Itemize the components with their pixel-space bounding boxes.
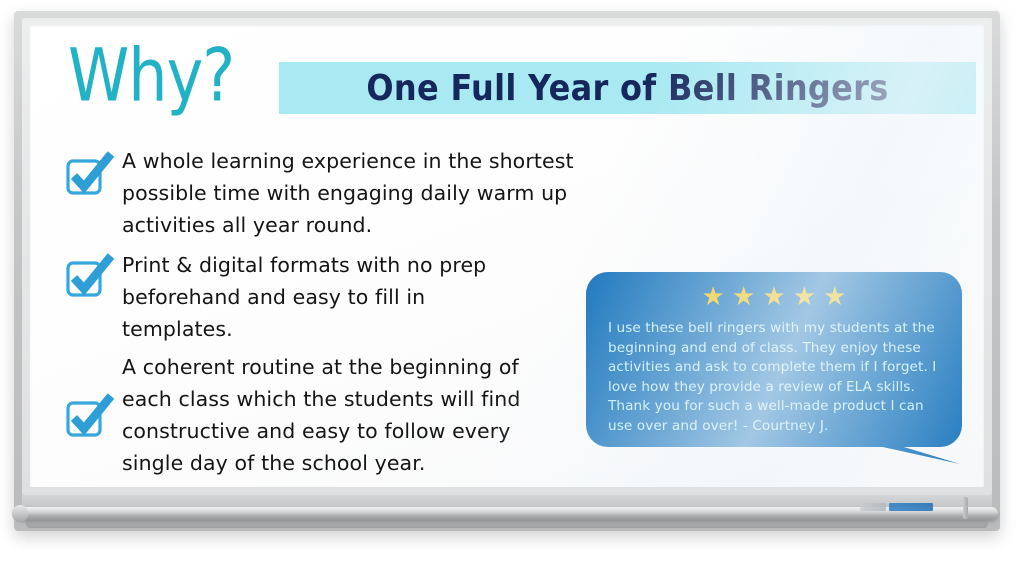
frame-screw <box>963 497 968 519</box>
why-heading: Why? <box>68 39 234 112</box>
star-icon: ★ <box>823 284 846 310</box>
title-band: One Full Year of Bell Ringers <box>279 62 976 114</box>
testimonial-quote-line: use over and over! - Courtney J. <box>608 417 948 437</box>
list-item-text: A whole learning experience in the short… <box>122 143 584 241</box>
brand-logo-mark <box>860 503 886 511</box>
page-title: One Full Year of Bell Ringers <box>366 67 888 109</box>
marker-tray-end-cap <box>12 505 28 522</box>
checkbox-checked-icon <box>64 251 116 299</box>
benefits-list: A whole learning experience in the short… <box>64 143 584 483</box>
star-icon: ★ <box>702 284 725 310</box>
brand-logo <box>860 501 938 512</box>
list-item: A whole learning experience in the short… <box>64 143 584 241</box>
star-icon: ★ <box>793 284 816 310</box>
list-item-text: A coherent routine at the beginning of e… <box>122 349 552 479</box>
checkbox-checked-icon <box>64 149 116 197</box>
testimonial-quote-line: I use these bell ringers with my student… <box>608 319 948 339</box>
testimonial-quote: I use these bell ringers with my student… <box>608 319 948 436</box>
list-item: A coherent routine at the beginning of e… <box>64 349 584 479</box>
list-item: Print & digital formats with no prep bef… <box>64 247 584 345</box>
marker-tray-rail <box>16 507 998 520</box>
star-rating: ★ ★ ★ ★ ★ <box>586 284 962 310</box>
testimonial-bubble: ★ ★ ★ ★ ★ I use these bell ringers with … <box>586 272 962 447</box>
header: Why? One Full Year of Bell Ringers <box>68 47 980 127</box>
whiteboard: Why? One Full Year of Bell Ringers A who… <box>14 11 1000 531</box>
list-item-text: Print & digital formats with no prep bef… <box>122 247 542 345</box>
star-icon: ★ <box>762 284 785 310</box>
marker-tray-underside <box>26 519 988 528</box>
testimonial-quote-line: activities and ask to complete them if I… <box>608 358 948 378</box>
testimonial-quote-line: beginning and end of class. They enjoy t… <box>608 339 948 359</box>
star-icon: ★ <box>732 284 755 310</box>
marker-tray <box>16 495 998 529</box>
whiteboard-surface: Why? One Full Year of Bell Ringers A who… <box>30 25 984 487</box>
checkbox-checked-icon <box>64 391 116 439</box>
brand-logo-chip <box>889 503 933 511</box>
testimonial-quote-line: Thank you for such a well-made product I… <box>608 397 948 417</box>
testimonial-quote-line: love how they provide a review of ELA sk… <box>608 378 948 398</box>
